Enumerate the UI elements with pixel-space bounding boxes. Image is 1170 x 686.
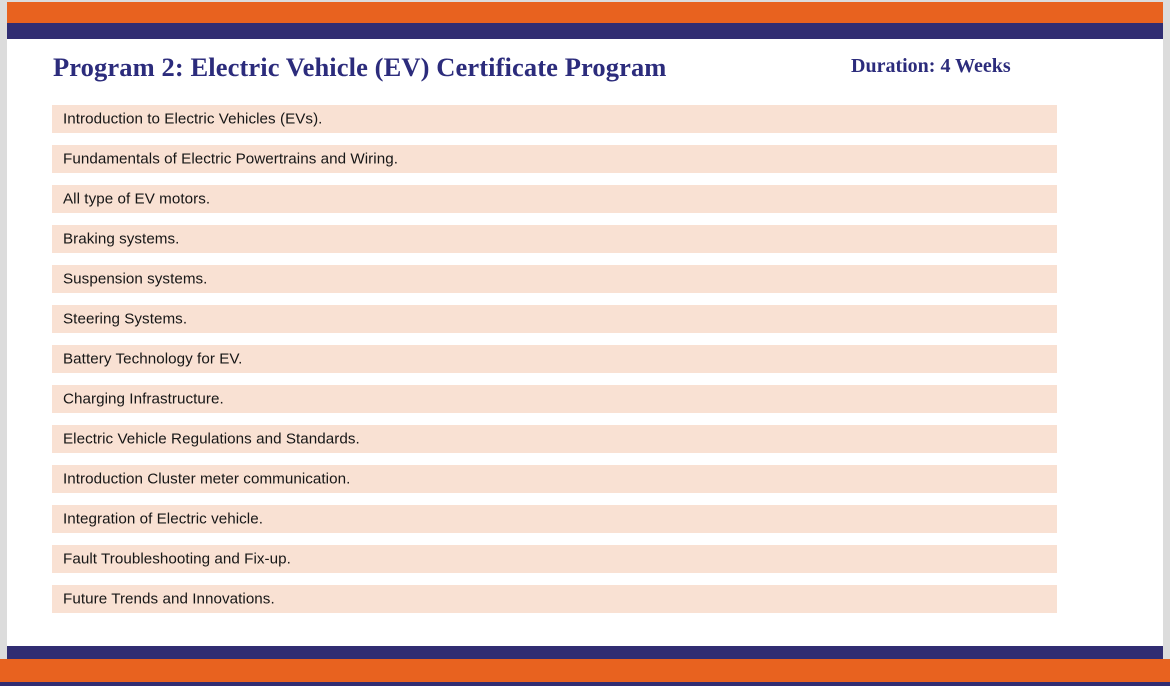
slide-header: Program 2: Electric Vehicle (EV) Certifi…	[53, 52, 1113, 96]
list-item-label: Fault Troubleshooting and Fix-up.	[63, 551, 291, 568]
list-item[interactable]: Introduction to Electric Vehicles (EVs).	[52, 105, 1057, 133]
list-item-label: Charging Infrastructure.	[63, 391, 224, 408]
list-item[interactable]: Electric Vehicle Regulations and Standar…	[52, 425, 1057, 453]
content-card: Program 2: Electric Vehicle (EV) Certifi…	[7, 39, 1163, 646]
list-item[interactable]: Braking systems.	[52, 225, 1057, 253]
list-item-label: All type of EV motors.	[63, 191, 210, 208]
page-title: Program 2: Electric Vehicle (EV) Certifi…	[53, 52, 666, 83]
top-navy-band	[7, 23, 1163, 39]
bottom-navy-edge	[0, 682, 1170, 686]
bottom-orange-band	[0, 659, 1170, 682]
list-item-label: Braking systems.	[63, 231, 179, 248]
list-item[interactable]: Charging Infrastructure.	[52, 385, 1057, 413]
list-item[interactable]: Introduction Cluster meter communication…	[52, 465, 1057, 493]
bottom-navy-band	[7, 646, 1163, 659]
list-item-label: Suspension systems.	[63, 271, 207, 288]
list-item-label: Integration of Electric vehicle.	[63, 511, 263, 528]
list-item[interactable]: Suspension systems.	[52, 265, 1057, 293]
list-item[interactable]: Future Trends and Innovations.	[52, 585, 1057, 613]
list-item[interactable]: Fault Troubleshooting and Fix-up.	[52, 545, 1057, 573]
list-item[interactable]: Battery Technology for EV.	[52, 345, 1057, 373]
list-item-label: Fundamentals of Electric Powertrains and…	[63, 151, 398, 168]
top-orange-band	[7, 2, 1163, 23]
list-item-label: Battery Technology for EV.	[63, 351, 242, 368]
list-item-label: Steering Systems.	[63, 311, 187, 328]
list-item-label: Introduction Cluster meter communication…	[63, 471, 350, 488]
list-item-label: Electric Vehicle Regulations and Standar…	[63, 431, 360, 448]
list-item[interactable]: Steering Systems.	[52, 305, 1057, 333]
list-item-label: Future Trends and Innovations.	[63, 591, 275, 608]
list-item[interactable]: All type of EV motors.	[52, 185, 1057, 213]
slide-canvas: Program 2: Electric Vehicle (EV) Certifi…	[0, 0, 1170, 686]
topic-list: Introduction to Electric Vehicles (EVs).…	[52, 105, 1057, 625]
list-item[interactable]: Fundamentals of Electric Powertrains and…	[52, 145, 1057, 173]
list-item[interactable]: Integration of Electric vehicle.	[52, 505, 1057, 533]
list-item-label: Introduction to Electric Vehicles (EVs).	[63, 111, 322, 128]
duration-badge: Duration: 4 Weeks	[851, 55, 1011, 78]
